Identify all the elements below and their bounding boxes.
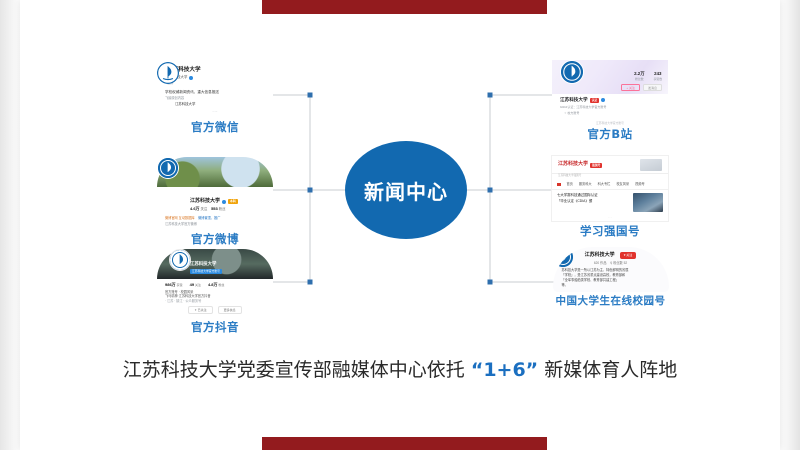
xuexi-card[interactable]: 江苏科技大学 强国号 江苏科技大学强国号 首页 服务科大 科大专栏 校友风采 视… (551, 155, 669, 222)
weibo-meta: 江苏科技大学 本科 4.6万 关注 553 粉丝 (157, 187, 273, 214)
verified-badge-icon (189, 76, 193, 80)
xuexi-footer-dots: · · · (552, 215, 668, 221)
weibo-tags-blue: 微博置顶、推广 (198, 216, 220, 220)
xuexi-title: 江苏科技大学 (558, 161, 588, 168)
cdu-follow-button[interactable]: ♥ 关注 (620, 252, 637, 258)
caption-highlight: “1+6” (471, 359, 538, 381)
wechat-footer-dots: · · · (157, 110, 273, 118)
xuexi-nav-item-4[interactable]: 视频号 (635, 182, 645, 187)
node-official-weibo[interactable]: 江苏科技大学 本科 4.6万 关注 553 粉丝 微博官网 互动数据库 (140, 157, 290, 247)
douyin-following-value: 49 (190, 282, 194, 287)
cdu-description: 苏科技大学是一所以江苏为主、特色鲜明的省属 「学校」，是江苏省重点建设高校，教育… (553, 266, 669, 293)
center-node-label: 新闻中心 (364, 176, 448, 205)
bilibili-stat-likes: 243 获赞数 (654, 71, 662, 82)
weibo-level-badge: 本科 (228, 199, 238, 204)
xuexi-header-thumb (640, 159, 662, 171)
node-label-official-wechat: 官方微信 (140, 119, 290, 135)
node-label-official-weibo: 官方微博 (140, 231, 290, 247)
node-label-official-douyin: 官方抖音 (140, 319, 290, 335)
wechat-card[interactable]: 江苏科技大学 江苏科技大学 江苏 学校权威新闻资讯、重大信息推送 飞最原创内容 … (157, 62, 273, 118)
douyin-stat-likes: 986万 获赞 (165, 282, 183, 288)
xuexi-nav: 首页 服务科大 科大专栏 校友风采 视频号 (552, 180, 668, 191)
xuexi-article-item[interactable]: 七大学赛科技通过国际认证 「毕业认定《CDIA》颁 (552, 190, 668, 215)
university-logo-icon (157, 157, 179, 179)
bilibili-card[interactable]: 2.2万 粉丝数 243 获赞数 + 关注 发消息 (552, 60, 668, 125)
wechat-card-header: 江苏科技大学 江苏科技大学 江苏 (157, 62, 273, 88)
bilibili-verified-badge: 认证 (590, 98, 600, 103)
weibo-fans-value: 553 (211, 206, 218, 211)
weibo-account-name: 江苏科技大学 (190, 198, 220, 205)
node-label-official-bilibili: 官方B站 (535, 126, 685, 142)
bilibili-tag: ✧ 校方账号 (560, 111, 660, 115)
cdu-desc-line-4: 等。 (562, 283, 660, 288)
bilibili-likes-label: 获赞数 (654, 77, 662, 81)
cdu-card[interactable]: 江苏科技大学 ♥ 关注 620 作品 ⚲ 粉丝数 52 苏科技大学是一所以江苏为… (553, 247, 669, 292)
weibo-stats: 4.6万 关注 553 粉丝 (190, 206, 265, 212)
bilibili-follow-button[interactable]: + 关注 (621, 84, 640, 91)
xuexi-nav-item-2[interactable]: 科大专栏 (598, 182, 611, 187)
xuexi-nav-marker-icon (557, 183, 561, 187)
node-official-bilibili[interactable]: 2.2万 粉丝数 243 获赞数 + 关注 发消息 (535, 60, 685, 142)
cdu-account-name: 江苏科技大学 (585, 252, 615, 259)
slide-background: 新闻中心 江苏科技大学 江苏科技大学 (0, 0, 800, 450)
caption-suffix: 新媒体育人阵地 (544, 359, 677, 381)
douyin-follow-button[interactable]: ✦ 已关注 (188, 306, 212, 314)
weibo-tags-orange: 微博官网 互动数据库 (165, 216, 195, 220)
xuexi-card-header: 江苏科技大学 强国号 (552, 156, 668, 174)
bilibili-actions: + 关注 发消息 (621, 84, 662, 91)
douyin-verified-badge: 江苏科技大学官方账号 (190, 269, 222, 274)
douyin-fans-label: 粉丝 (218, 283, 224, 287)
university-logo-icon (157, 62, 179, 84)
node-official-douyin[interactable]: 江苏科技大学 江苏科技大学官方账号 986万 获赞 49 关注 4 (140, 249, 290, 335)
douyin-stats: 986万 获赞 49 关注 4.8万 粉丝 (157, 279, 273, 289)
douyin-stat-fans: 4.8万 粉丝 (208, 282, 224, 288)
node-label-xuexi-qiangguo: 学习强国号 (535, 223, 685, 239)
weibo-tags: 微博官网 互动数据库 微博置顶、推广 (157, 214, 273, 221)
weibo-verified-icon (222, 200, 226, 204)
cdu-posts-label: 作品 (600, 261, 606, 265)
douyin-actions: ✦ 已关注 更多信息 (157, 306, 273, 318)
bilibili-followers-label: 粉丝数 (635, 77, 643, 81)
bilibili-signature: bilibili认证：江苏科技大学官方账号 (560, 105, 660, 109)
university-logo-icon (169, 249, 191, 271)
bilibili-message-button[interactable]: 发消息 (643, 84, 662, 91)
xuexi-title-block: 江苏科技大学 强国号 (558, 161, 602, 168)
douyin-likes-label: 获赞 (177, 283, 183, 287)
bilibili-body: 江苏科技大学 认证 bilibili认证：江苏科技大学官方账号 ✧ 校方账号 (552, 94, 668, 119)
bilibili-account-name: 江苏科技大学 (560, 97, 588, 104)
node-official-wechat[interactable]: 江苏科技大学 江苏科技大学 江苏 学校权威新闻资讯、重大信息推送 飞最原创内容 … (140, 62, 290, 135)
cdu-fans-label: 粉丝数 52 (613, 261, 627, 265)
mindmap-canvas: 新闻中心 江苏科技大学 江苏科技大学 (0, 0, 800, 450)
university-logo-icon (553, 247, 573, 267)
bilibili-stats: 2.2万 粉丝数 243 获赞数 (634, 71, 662, 82)
bilibili-account-row: 江苏科技大学 认证 (560, 97, 660, 104)
cdu-posts-value: 620 (594, 261, 599, 265)
wechat-reply-row: 江苏科技大学 (157, 101, 273, 111)
search-icon: ⚲ (610, 261, 612, 265)
node-label-china-university-online: 中国大学生在线校园号 (513, 293, 708, 308)
douyin-stat-following: 49 关注 (190, 282, 201, 288)
douyin-likes-value: 986万 (165, 282, 176, 287)
node-xuexi-qiangguo[interactable]: 江苏科技大学 强国号 江苏科技大学强国号 首页 服务科大 科大专栏 校友风采 视… (535, 155, 685, 239)
douyin-more-button[interactable]: 更多信息 (218, 306, 242, 314)
douyin-banner-image: 江苏科技大学 江苏科技大学官方账号 (157, 249, 273, 279)
bilibili-banner-image: 2.2万 粉丝数 243 获赞数 + 关注 发消息 (552, 60, 668, 94)
weibo-card[interactable]: 江苏科技大学 本科 4.6万 关注 553 粉丝 微博官网 互动数据库 (157, 157, 273, 230)
slide-caption: 江苏科技大学党委宣传部融媒体中心依托 “1+6” 新媒体育人阵地 (0, 355, 800, 382)
bilibili-stat-followers: 2.2万 粉丝数 (634, 71, 645, 82)
bilibili-footer: 江苏科技大学官方账号 (552, 119, 668, 125)
wechat-description: 学校权威新闻资讯、重大信息推送 (157, 88, 273, 96)
xuexi-nav-item-3[interactable]: 校友风采 (616, 182, 629, 187)
xuexi-nav-item-1[interactable]: 服务科大 (579, 182, 592, 187)
male-icon (601, 98, 605, 102)
weibo-subline: 江苏科技大学官方微博 (157, 221, 273, 231)
university-logo-icon (560, 60, 584, 84)
xuexi-article-thumbnail (633, 193, 663, 212)
xuexi-article-line-2: 「毕业认定《CDIA》颁 (557, 199, 629, 204)
douyin-fans-value: 4.8万 (208, 282, 218, 287)
weibo-banner-image (157, 157, 273, 187)
weibo-account-row: 江苏科技大学 本科 (190, 198, 265, 205)
cdu-card-body: 江苏科技大学 ♥ 关注 620 作品 ⚲ 粉丝数 52 苏科技大学是一所以江苏为… (553, 247, 669, 292)
douyin-card[interactable]: 江苏科技大学 江苏科技大学官方账号 986万 获赞 49 关注 4 (157, 249, 273, 318)
douyin-account-badge-row: 江苏科技大学官方账号 (190, 269, 222, 274)
weibo-followers-label: 关注 (201, 207, 208, 211)
douyin-following-label: 关注 (195, 283, 201, 287)
weibo-fans-label: 粉丝 (219, 207, 226, 211)
node-china-university-online[interactable]: 江苏科技大学 ♥ 关注 620 作品 ⚲ 粉丝数 52 苏科技大学是一所以江苏为… (513, 247, 708, 308)
weibo-followers-value: 4.6万 (190, 206, 200, 211)
center-node-news-center[interactable]: 新闻中心 (345, 141, 467, 239)
douyin-bio-3: · 江苏 · 镇江 · 公众服务号 (157, 299, 273, 306)
xuexi-nav-item-0[interactable]: 首页 (567, 182, 573, 187)
douyin-account-name: 江苏科技大学 (190, 261, 216, 267)
xuexi-title-badge: 强国号 (590, 163, 602, 168)
caption-prefix: 江苏科技大学党委宣传部融媒体中心依托 (123, 359, 465, 381)
